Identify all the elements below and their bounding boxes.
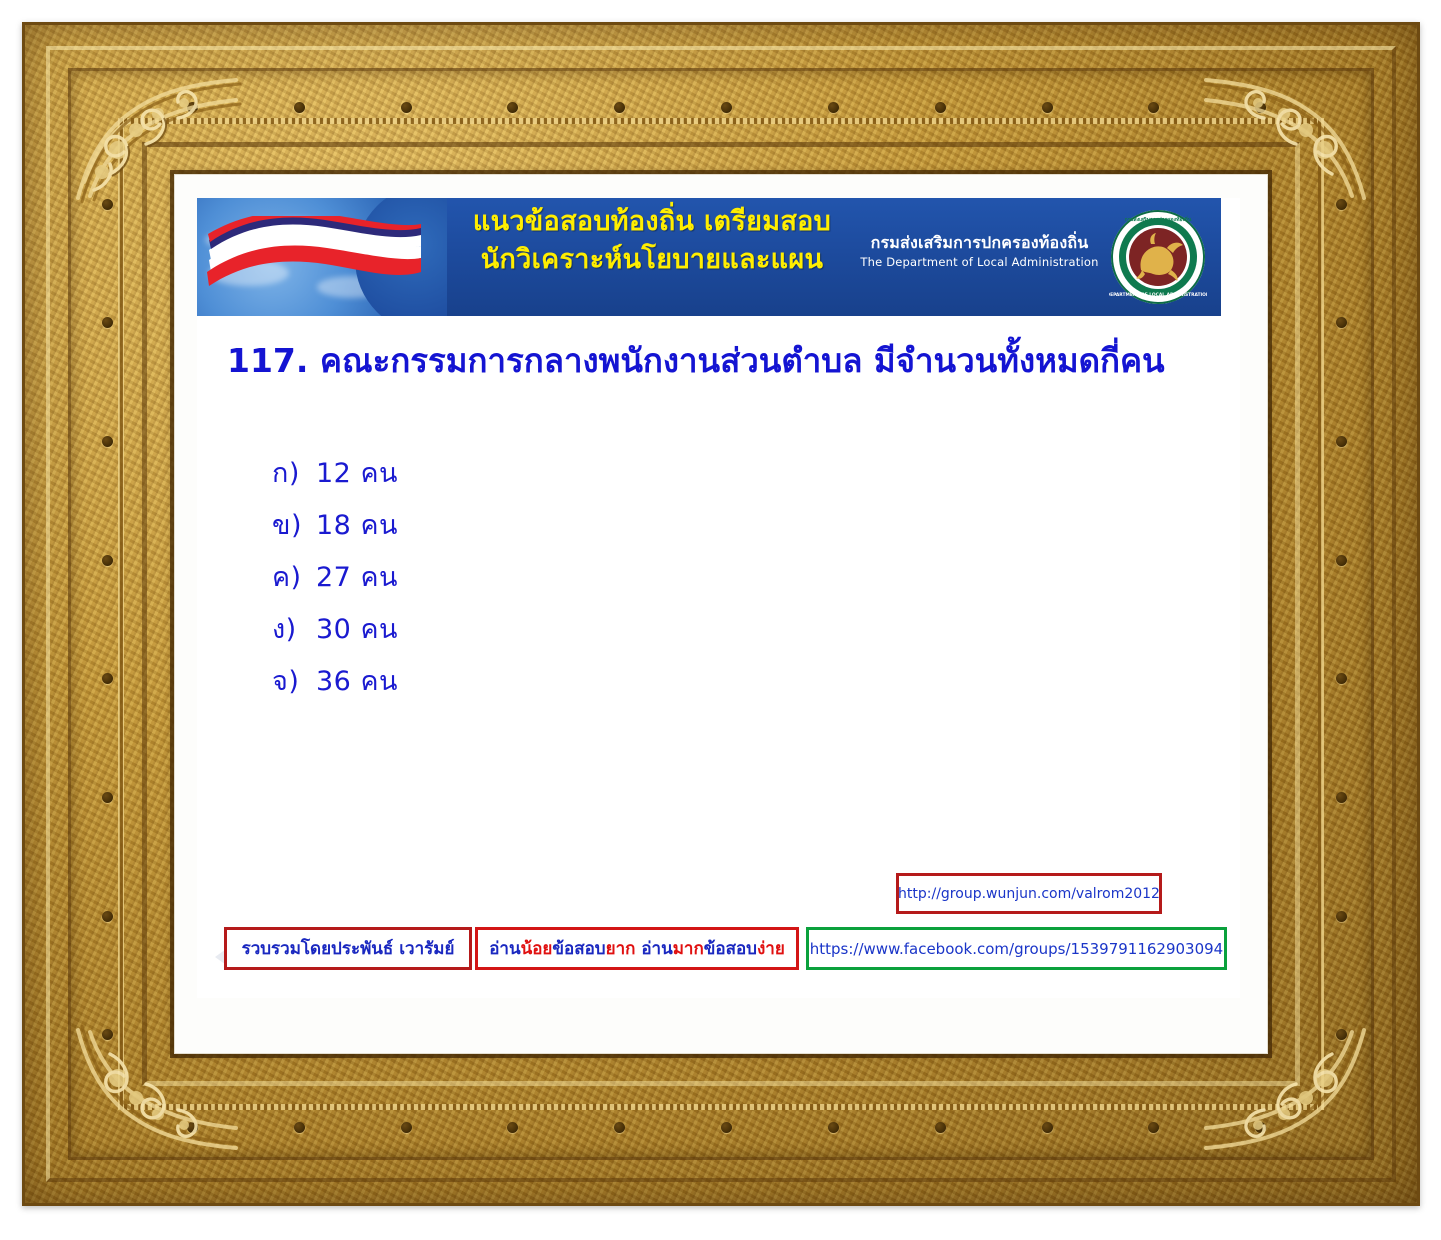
svg-text:DEPARTMENT OF LOCAL ADMINISTRA: DEPARTMENT OF LOCAL ADMINISTRATION [1109, 292, 1207, 298]
choice-label: ง) [272, 616, 316, 643]
thai-flag-icon [207, 216, 422, 290]
department-name: กรมส่งเสริมการปกครองท้องถิ่น The Departm… [857, 234, 1102, 269]
svg-text:กรมส่งเสริมการปกครองท้องถิ่น: กรมส่งเสริมการปกครองท้องถิ่น [1125, 215, 1192, 223]
motto-part: ข้อสอบ [704, 939, 757, 959]
author-credit-box: รวบรวมโดยประพันธ์ เวารัมย์ [224, 927, 472, 970]
motto-part: อ่าน [635, 939, 672, 959]
slide-canvas: แนวข้อสอบท้องถิ่น เตรียมสอบ นักวิเคราะห์… [197, 198, 1240, 998]
motto-box: อ่านน้อยข้อสอบยาก อ่านมากข้อสอบง่าย [475, 927, 799, 970]
choice-option[interactable]: ค)27 คน [272, 564, 972, 591]
choice-label: จ) [272, 668, 316, 695]
choice-option[interactable]: จ)36 คน [272, 668, 972, 695]
choice-label: ข) [272, 512, 316, 539]
department-name-english: The Department of Local Administration [857, 255, 1102, 269]
motto-part: น้อย [521, 939, 553, 959]
choice-value: 36 คน [316, 666, 398, 697]
banner-title: แนวข้อสอบท้องถิ่น เตรียมสอบ นักวิเคราะห์… [437, 206, 867, 276]
motto-part: ข้อสอบ [552, 939, 605, 959]
choice-value: 30 คน [316, 614, 398, 645]
motto-part: อ่าน [489, 939, 520, 959]
banner-title-line1: แนวข้อสอบท้องถิ่น เตรียมสอบ [437, 206, 867, 238]
choice-label: ก) [272, 460, 316, 487]
choice-option[interactable]: ข)18 คน [272, 512, 972, 539]
choice-list: ก)12 คนข)18 คนค)27 คนง)30 คนจ)36 คน [272, 460, 972, 720]
question-text: 117. คณะกรรมการกลางพนักงานส่วนตำบล มีจำน… [227, 338, 1202, 385]
header-banner: แนวข้อสอบท้องถิ่น เตรียมสอบ นักวิเคราะห์… [197, 198, 1221, 316]
department-name-thai: กรมส่งเสริมการปกครองท้องถิ่น [857, 234, 1102, 252]
facebook-url-text: https://www.facebook.com/groups/15397911… [810, 940, 1223, 958]
department-seal-icon: กรมส่งเสริมการปกครองท้องถิ่น DEPARTMENT … [1109, 208, 1207, 306]
choice-value: 18 คน [316, 510, 398, 541]
motto-part: ยาก [606, 939, 636, 959]
facebook-url-box[interactable]: https://www.facebook.com/groups/15397911… [806, 927, 1227, 970]
choice-label: ค) [272, 564, 316, 591]
choice-option[interactable]: ง)30 คน [272, 616, 972, 643]
banner-title-line2: นักวิเคราะห์นโยบายและแผน [437, 244, 867, 276]
choice-value: 27 คน [316, 562, 398, 593]
website-url-box[interactable]: http://group.wunjun.com/valrom2012 [896, 873, 1162, 914]
motto-part: ง่าย [757, 939, 785, 959]
choice-value: 12 คน [316, 458, 398, 489]
author-credit-text: รวบรวมโดยประพันธ์ เวารัมย์ [242, 935, 455, 962]
motto-part: มาก [673, 939, 704, 959]
website-url-text: http://group.wunjun.com/valrom2012 [898, 886, 1160, 902]
motto-text: อ่านน้อยข้อสอบยาก อ่านมากข้อสอบง่าย [489, 935, 785, 962]
choice-option[interactable]: ก)12 คน [272, 460, 972, 487]
